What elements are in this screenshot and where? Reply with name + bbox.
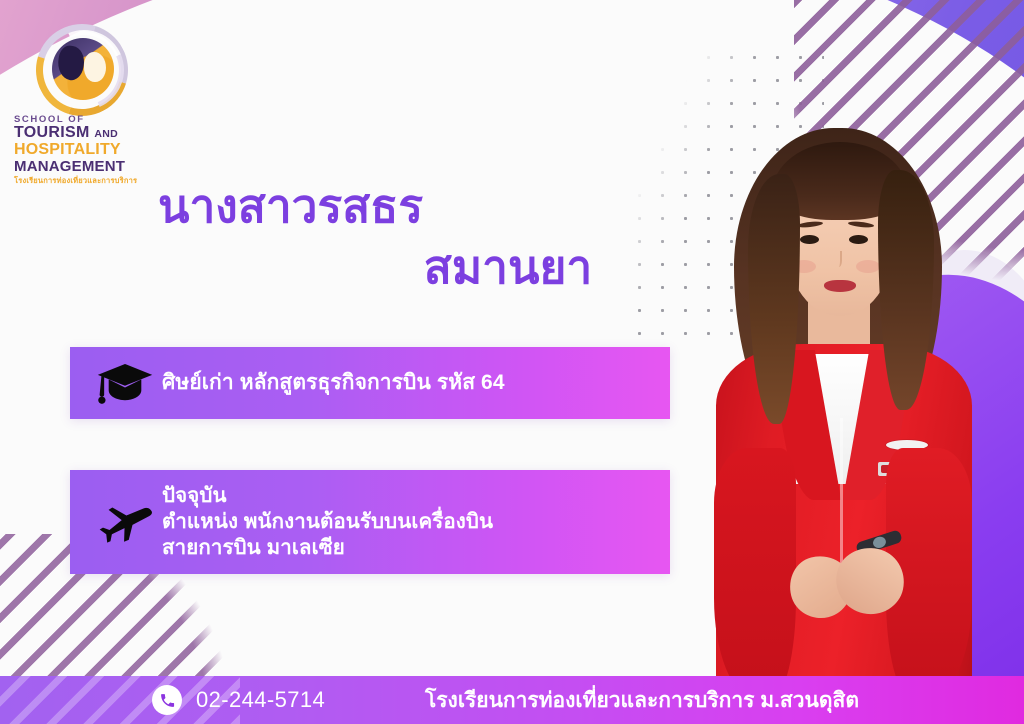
logo-line-management: MANAGEMENT <box>14 159 146 175</box>
globe-icon <box>52 38 114 100</box>
airplane-icon <box>88 501 162 543</box>
lips <box>824 280 856 292</box>
title-line-1: นางสาวรสธร <box>158 176 718 237</box>
blush-right <box>856 260 880 273</box>
eye-left <box>800 235 819 244</box>
nose <box>834 251 842 267</box>
title-line-2: สมานยา <box>158 237 718 298</box>
graduation-cap-icon <box>88 360 162 406</box>
jacket-zipper <box>840 418 843 568</box>
badge-line-airline: สายการบิน มาเลเซีย <box>162 535 493 561</box>
arm-left <box>714 448 796 698</box>
logo-line-tourism: TOURISM AND <box>14 125 146 142</box>
badge-line-position: ตำแหน่ง พนักงานต้อนรับบนเครื่องบิน <box>162 509 493 535</box>
logo-wordmark: SCHOOL OF TOURISM AND HOSPITALITY MANAGE… <box>14 114 146 187</box>
page-title: นางสาวรสธร สมานยา <box>158 176 718 297</box>
organization-name: โรงเรียนการท่องเที่ยวและการบริการ ม.สวนด… <box>0 676 1024 724</box>
logo-and-word: AND <box>94 128 118 140</box>
poster-canvas: SCHOOL OF TOURISM AND HOSPITALITY MANAGE… <box>0 0 1024 724</box>
globe-logo-icon <box>32 22 132 118</box>
badge-alumni-text: ศิษย์เก่า หลักสูตรธุรกิจการบิน รหัส 64 <box>162 370 505 397</box>
badge-alumni: ศิษย์เก่า หลักสูตรธุรกิจการบิน รหัส 64 <box>70 347 670 419</box>
school-logo: SCHOOL OF TOURISM AND HOSPITALITY MANAGE… <box>14 22 146 172</box>
badge-current-position: ปัจจุบัน ตำแหน่ง พนักงานต้อนรับบนเครื่อง… <box>70 470 670 574</box>
logo-tourism-word: TOURISM <box>14 124 90 141</box>
flight-attendant-photo <box>690 118 1006 678</box>
logo-line-hospitality: HOSPITALITY <box>14 142 146 159</box>
badge-line-current: ปัจจุบัน <box>162 483 493 509</box>
footer-bar: 02-244-5714 โรงเรียนการท่องเที่ยวและการบ… <box>0 676 1024 724</box>
logo-line-thai: โรงเรียนการท่องเที่ยวและการบริการ <box>14 175 146 187</box>
eye-right <box>849 235 868 244</box>
badge-current-position-text: ปัจจุบัน ตำแหน่ง พนักงานต้อนรับบนเครื่อง… <box>162 483 493 562</box>
